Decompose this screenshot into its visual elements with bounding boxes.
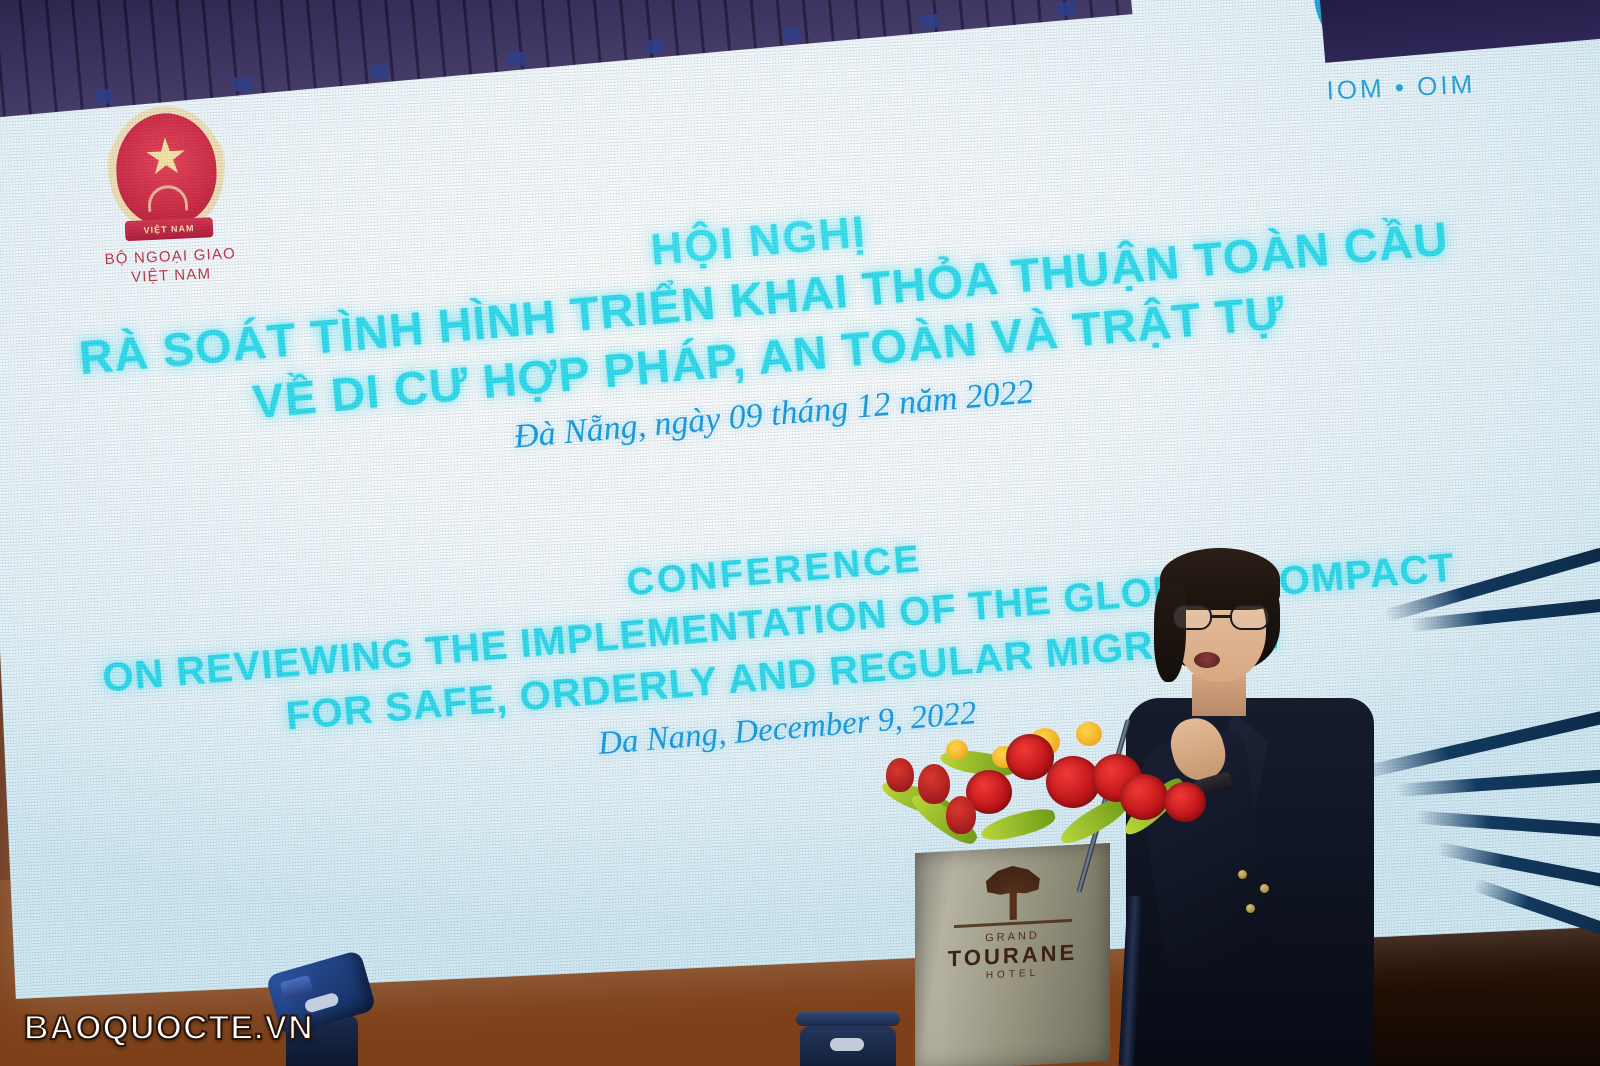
emblem-banner: VIỆT NAM <box>125 217 214 241</box>
flower-arrangement <box>880 700 1210 860</box>
glasses-icon <box>1172 604 1270 630</box>
rose-bud <box>946 796 976 834</box>
podium-plaque: GRAND TOURANE HOTEL <box>915 843 1110 985</box>
blazer-button <box>1260 884 1269 893</box>
podium-stand <box>1119 896 1144 1066</box>
decorative-plant <box>1350 560 1600 990</box>
speaker-mouth <box>1194 652 1220 668</box>
palm-frond <box>1416 811 1600 839</box>
yellow-flower <box>946 740 968 760</box>
red-rose <box>1164 782 1206 822</box>
rose-bud <box>886 758 914 792</box>
red-rose <box>1120 774 1168 820</box>
blazer-button <box>1238 870 1247 879</box>
palm-frond <box>1472 878 1600 942</box>
gold-star-icon <box>145 136 187 178</box>
glasses-lens-right <box>1230 604 1270 630</box>
stage-light-right <box>800 1012 900 1066</box>
speaker-hair-side <box>1154 582 1186 682</box>
site-watermark: BAOQUOCTE.VN <box>24 1009 314 1048</box>
glasses-bridge <box>1212 615 1230 618</box>
emblem-disc <box>114 111 219 227</box>
vietnam-emblem-icon: VIỆT NAM <box>103 107 231 244</box>
palm-frond <box>1362 710 1600 779</box>
light-lens <box>280 975 314 1001</box>
light-badge <box>830 1038 864 1051</box>
gate-icon <box>147 184 188 212</box>
palm-frond <box>1437 842 1600 891</box>
rose-bud <box>918 764 950 804</box>
yellow-flower <box>1076 722 1102 746</box>
light-housing <box>800 1026 896 1066</box>
plaque-divider <box>954 919 1072 928</box>
podium: GRAND TOURANE HOTEL <box>905 836 1235 1066</box>
light-rim <box>796 1012 900 1026</box>
conference-photo: VIỆT NAM BỘ NGOẠI GIAO VIỆT NAM <box>0 0 1600 1066</box>
tree-monogram-icon <box>977 864 1049 922</box>
glasses-lens-left <box>1172 604 1212 630</box>
palm-frond <box>1396 768 1600 797</box>
blazer-button <box>1246 904 1255 913</box>
